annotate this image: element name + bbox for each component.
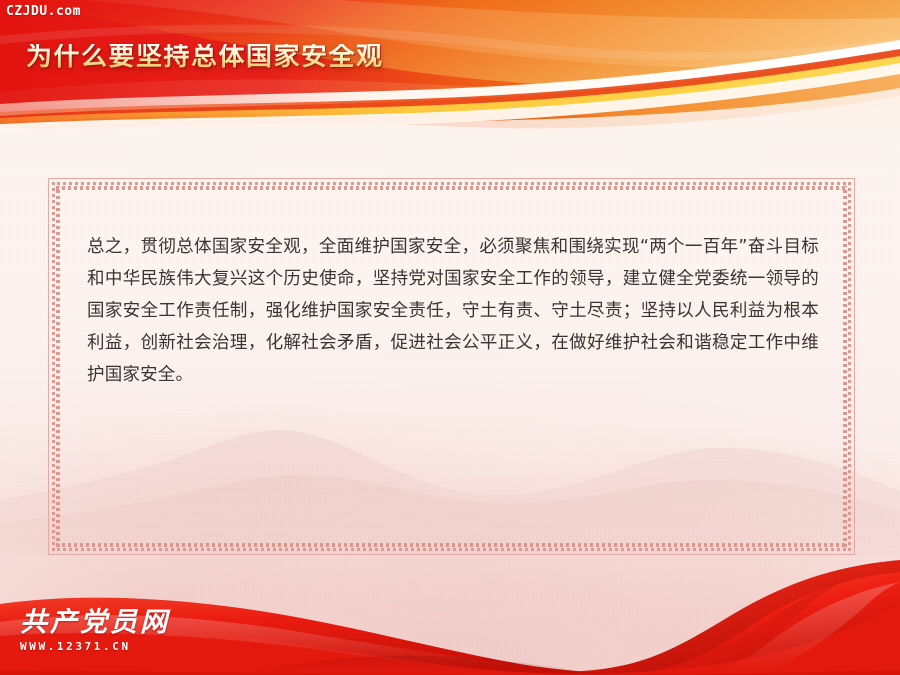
footer-logo-url: WWW.12371.CN (20, 640, 170, 653)
header-banner: CZJDU.com 为什么要坚持总体国家安全观 (0, 0, 900, 132)
page-title: 为什么要坚持总体国家安全观 (26, 44, 384, 70)
slide-canvas: CZJDU.com 为什么要坚持总体国家安全观 总之，贯彻总体国家安全观，全面维… (0, 0, 900, 675)
footer-logo-name: 共产党员网 (20, 609, 170, 637)
footer-silk-graphic (0, 530, 900, 675)
footer-banner: 共产党员网 WWW.12371.CN (0, 530, 900, 675)
content-frame: 总之，贯彻总体国家安全观，全面维护国家安全，必须聚焦和围绕实现“两个一百年”奋斗… (48, 178, 855, 555)
footer-logo: 共产党员网 WWW.12371.CN (20, 609, 170, 653)
content-frame-inner-border: 总之，贯彻总体国家安全观，全面维护国家安全，必须聚焦和围绕实现“两个一百年”奋斗… (52, 182, 851, 551)
site-watermark: CZJDU.com (6, 4, 81, 19)
body-paragraph: 总之，贯彻总体国家安全观，全面维护国家安全，必须聚焦和围绕实现“两个一百年”奋斗… (87, 231, 819, 391)
